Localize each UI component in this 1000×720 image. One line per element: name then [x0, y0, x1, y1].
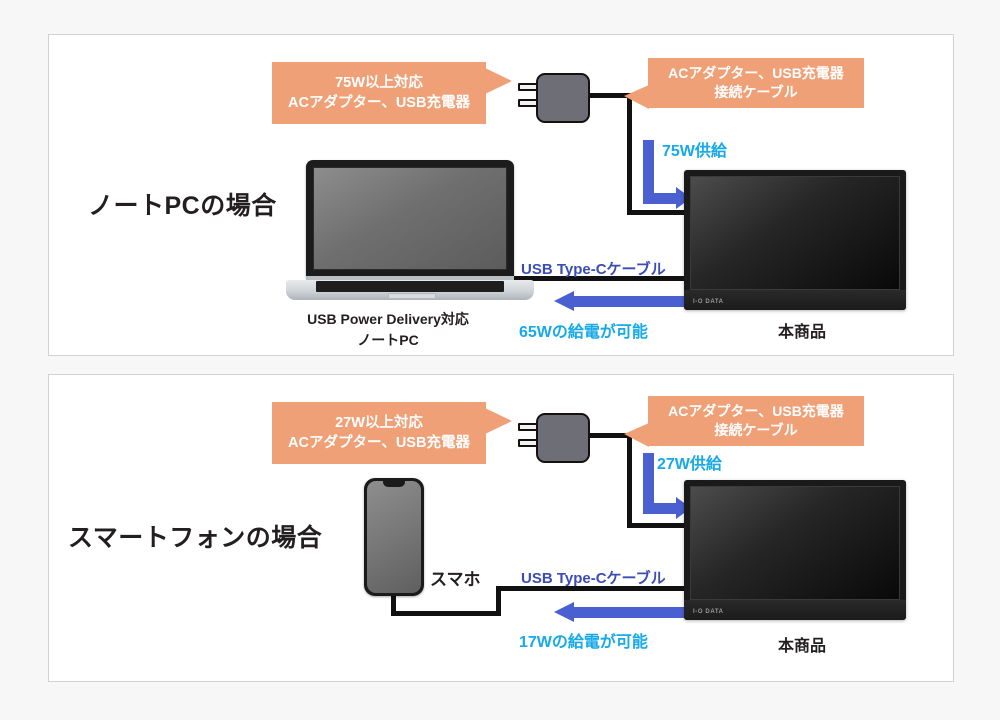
usb-c-cable-label-smartphone: USB Type-Cケーブル	[521, 567, 666, 588]
laptop-caption: USB Power Delivery対応 ノートPC	[288, 309, 488, 351]
callout-line-2: 接続ケーブル	[668, 83, 844, 102]
power-feed-arrow-smartphone	[554, 607, 684, 618]
adapter-cable-vertical-2	[627, 433, 632, 528]
callout-line-2: ACアダプター、USB充電器	[288, 93, 470, 113]
supply-label-laptop: 75W供給	[662, 137, 727, 161]
arrow-foot	[643, 503, 676, 514]
phone-notch	[383, 481, 405, 487]
section-title-smartphone: スマートフォンの場合	[68, 518, 322, 554]
product-label-laptop: 本商品	[778, 318, 826, 342]
adapter-body	[536, 413, 590, 463]
adapter-cable-vertical-1	[627, 93, 632, 215]
callout-tail-icon	[624, 85, 649, 109]
callout-adapter-spec-smartphone: 27W以上対応 ACアダプター、USB充電器	[272, 402, 486, 464]
phone-screen	[367, 481, 421, 593]
power-feed-arrow-laptop	[554, 296, 684, 307]
laptop-trackpad	[388, 293, 436, 299]
smartphone-caption: スマホ	[430, 565, 481, 590]
supply-label-smartphone: 27W供給	[657, 450, 722, 474]
callout-adapter-spec-laptop: 75W以上対応 ACアダプター、USB充電器	[272, 62, 486, 124]
monitor-device-illustration-smartphone: I-O DATA	[684, 480, 906, 620]
callout-tail-icon	[485, 408, 512, 434]
callout-line-1: 27W以上対応	[288, 413, 470, 433]
callout-line-2: ACアダプター、USB充電器	[288, 433, 470, 453]
laptop-keyboard	[316, 281, 504, 292]
arrow-head-icon	[554, 602, 574, 622]
arrow-stem	[643, 140, 654, 193]
adapter-body	[536, 73, 590, 123]
arrow-bar	[572, 296, 684, 307]
callout-line-2: 接続ケーブル	[668, 421, 844, 440]
arrow-head-icon	[554, 291, 574, 311]
monitor-brand-logo: I-O DATA	[693, 299, 724, 305]
ac-adapter-icon-laptop	[518, 73, 588, 119]
usb-c-cable-label-laptop: USB Type-Cケーブル	[521, 258, 666, 279]
section-title-laptop: ノートPCの場合	[88, 186, 277, 222]
callout-adapter-cable-laptop: ACアダプター、USB充電器 接続ケーブル	[648, 58, 864, 108]
adapter-cable-to-monitor-1	[627, 210, 689, 215]
feed-capability-label-laptop: 65Wの給電が可能	[519, 318, 648, 342]
callout-line-1: ACアダプター、USB充電器	[668, 402, 844, 421]
callout-line-1: 75W以上対応	[288, 73, 470, 93]
callout-tail-icon	[485, 68, 512, 94]
laptop-screen	[313, 167, 507, 270]
product-label-smartphone: 本商品	[778, 632, 826, 656]
adapter-cable-to-monitor-2	[627, 523, 689, 528]
laptop-lid	[306, 160, 514, 278]
phone-cable-horizontal-low	[391, 611, 501, 616]
monitor-screen	[690, 486, 900, 600]
monitor-screen	[690, 176, 900, 290]
monitor-device-illustration-laptop: I-O DATA	[684, 170, 906, 310]
callout-tail-icon	[624, 423, 649, 447]
arrow-stem	[643, 453, 654, 503]
arrow-foot	[643, 193, 676, 204]
laptop-caption-line-1: USB Power Delivery対応	[288, 309, 488, 330]
smartphone-device-illustration	[364, 478, 424, 596]
callout-adapter-cable-smartphone: ACアダプター、USB充電器 接続ケーブル	[648, 396, 864, 446]
laptop-device-illustration	[286, 160, 534, 305]
feed-capability-label-smartphone: 17Wの給電が可能	[519, 628, 648, 652]
arrow-bar	[572, 607, 684, 618]
callout-line-1: ACアダプター、USB充電器	[668, 64, 844, 83]
ac-adapter-icon-smartphone	[518, 413, 588, 459]
laptop-caption-line-2: ノートPC	[288, 330, 488, 351]
monitor-brand-logo: I-O DATA	[693, 609, 724, 615]
